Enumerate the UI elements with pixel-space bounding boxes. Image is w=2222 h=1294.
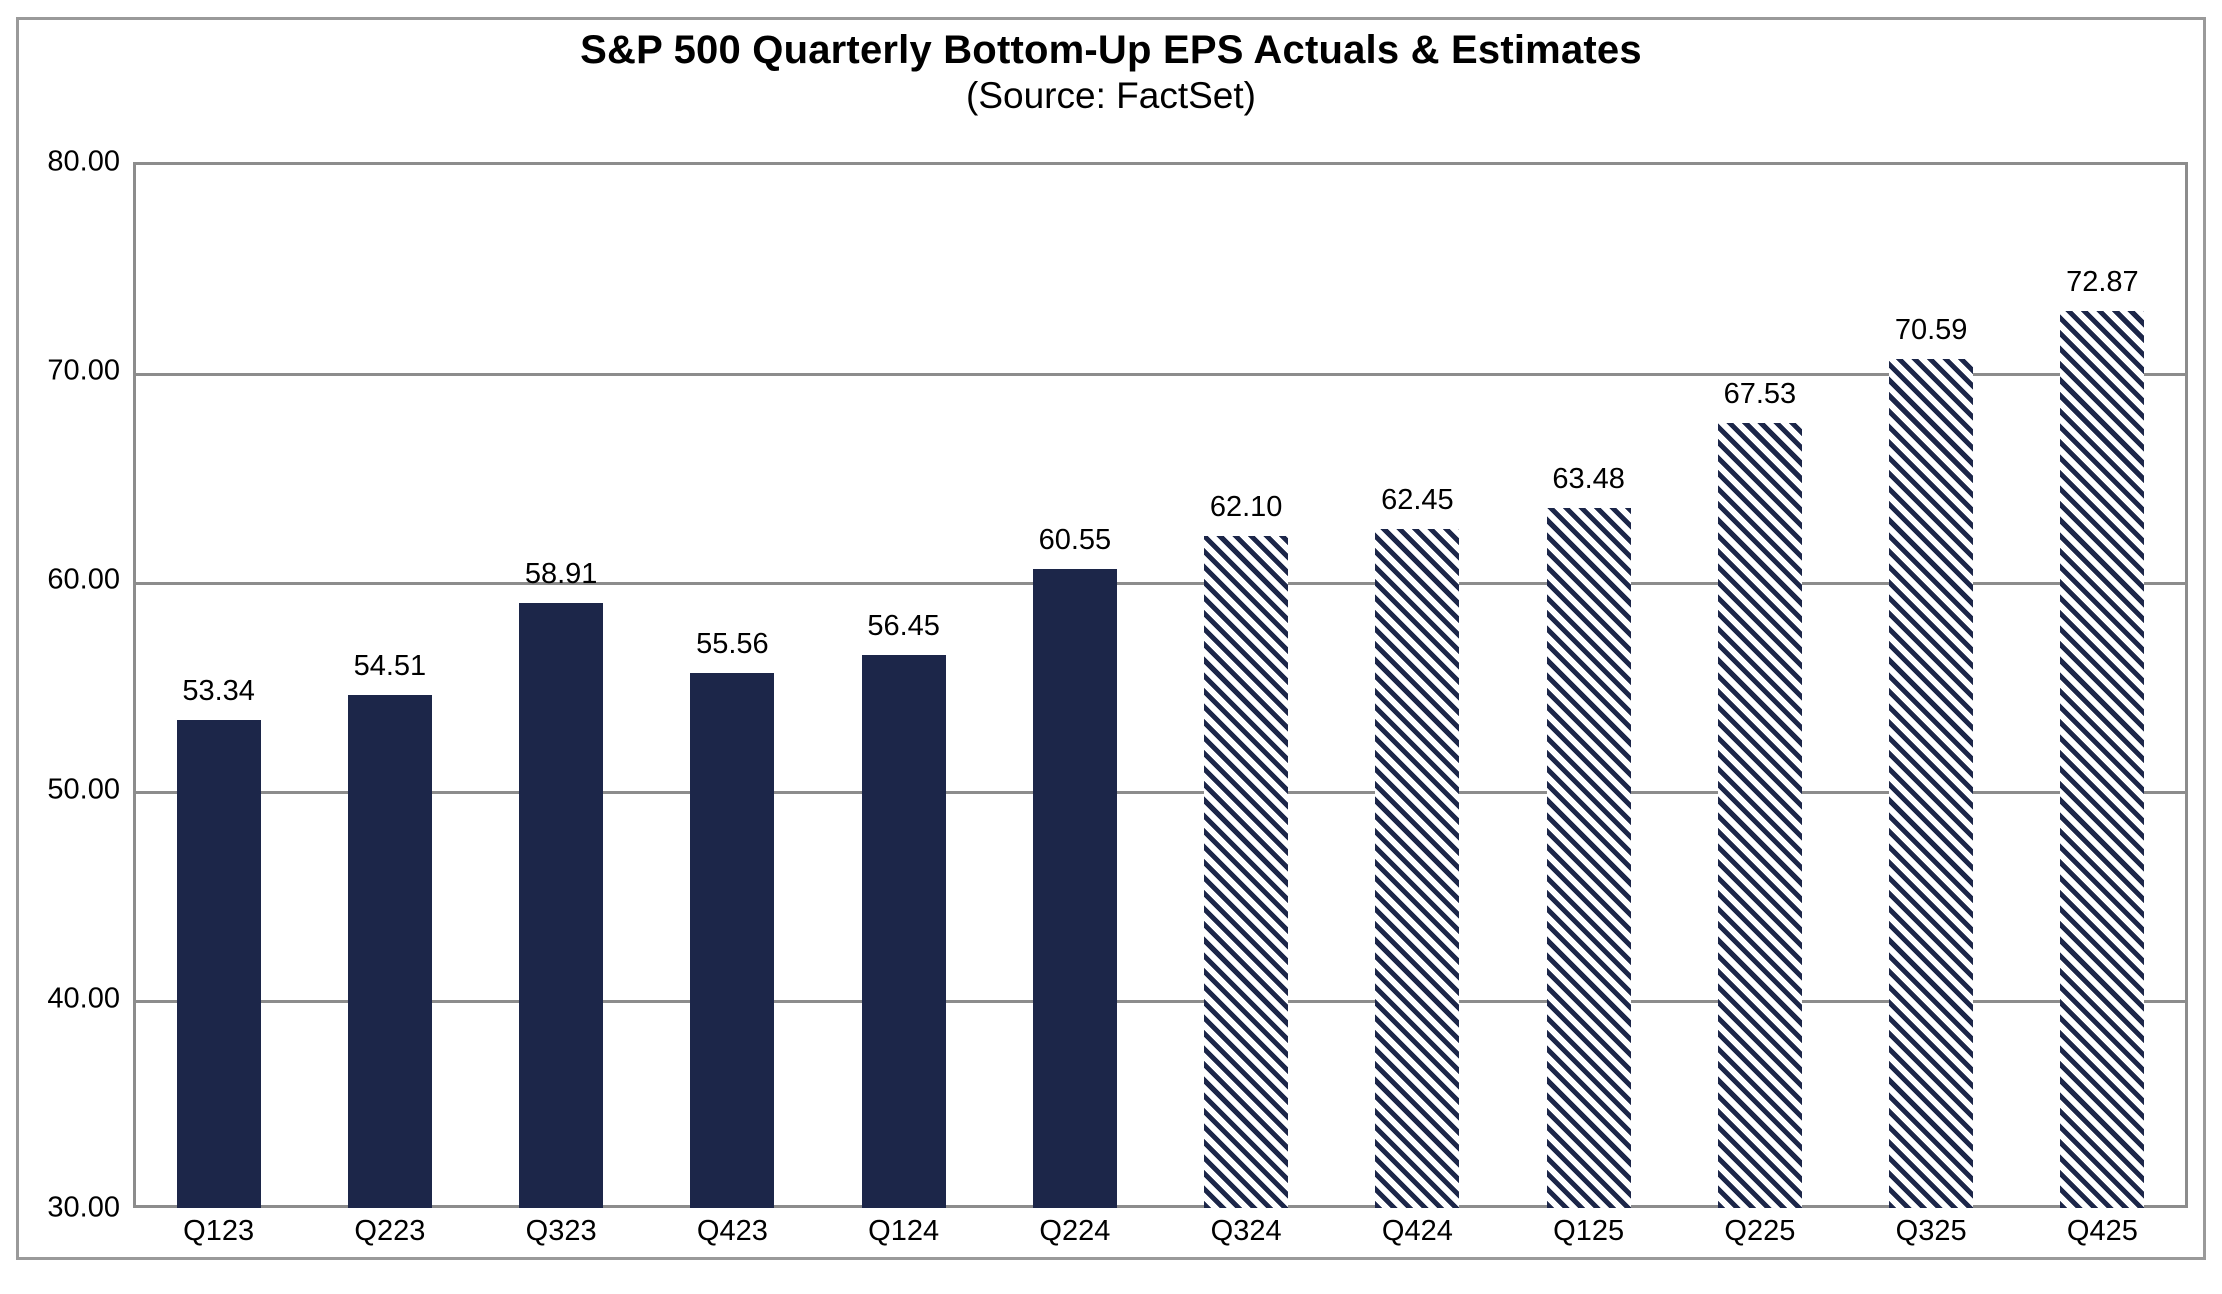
x-axis-tick-labels: Q123Q223Q323Q423Q124Q224Q324Q424Q125Q225…: [133, 1215, 2188, 1269]
y-tick-label: 80.00: [0, 146, 120, 179]
chart-subtitle: (Source: FactSet): [0, 75, 2222, 116]
x-tick-label-Q425: Q425: [2067, 1215, 2138, 1248]
chart-title: S&P 500 Quarterly Bottom-Up EPS Actuals …: [0, 28, 2222, 73]
gridline-70-00: [136, 373, 2185, 376]
y-tick-label: 30.00: [0, 1192, 120, 1225]
x-tick-label-Q324: Q324: [1211, 1215, 1282, 1248]
x-tick-label-Q223: Q223: [354, 1215, 425, 1248]
y-tick-label: 60.00: [0, 564, 120, 597]
y-tick-label: 70.00: [0, 355, 120, 388]
plot-area: [133, 162, 2188, 1208]
chart-title-block: S&P 500 Quarterly Bottom-Up EPS Actuals …: [0, 28, 2222, 116]
x-tick-label-Q423: Q423: [697, 1215, 768, 1248]
gridline-40-00: [136, 1000, 2185, 1003]
x-tick-label-Q424: Q424: [1382, 1215, 1453, 1248]
gridline-50-00: [136, 791, 2185, 794]
x-tick-label-Q124: Q124: [868, 1215, 939, 1248]
x-tick-label-Q323: Q323: [526, 1215, 597, 1248]
y-tick-label: 40.00: [0, 982, 120, 1015]
x-tick-label-Q325: Q325: [1896, 1215, 1967, 1248]
y-axis-tick-labels: 80.0070.0060.0050.0040.0030.00: [0, 162, 120, 1208]
chart-container: S&P 500 Quarterly Bottom-Up EPS Actuals …: [0, 0, 2222, 1294]
y-tick-label: 50.00: [0, 773, 120, 806]
gridline-60-00: [136, 582, 2185, 585]
x-tick-label-Q125: Q125: [1553, 1215, 1624, 1248]
x-tick-label-Q123: Q123: [183, 1215, 254, 1248]
x-tick-label-Q224: Q224: [1039, 1215, 1110, 1248]
x-tick-label-Q225: Q225: [1724, 1215, 1795, 1248]
